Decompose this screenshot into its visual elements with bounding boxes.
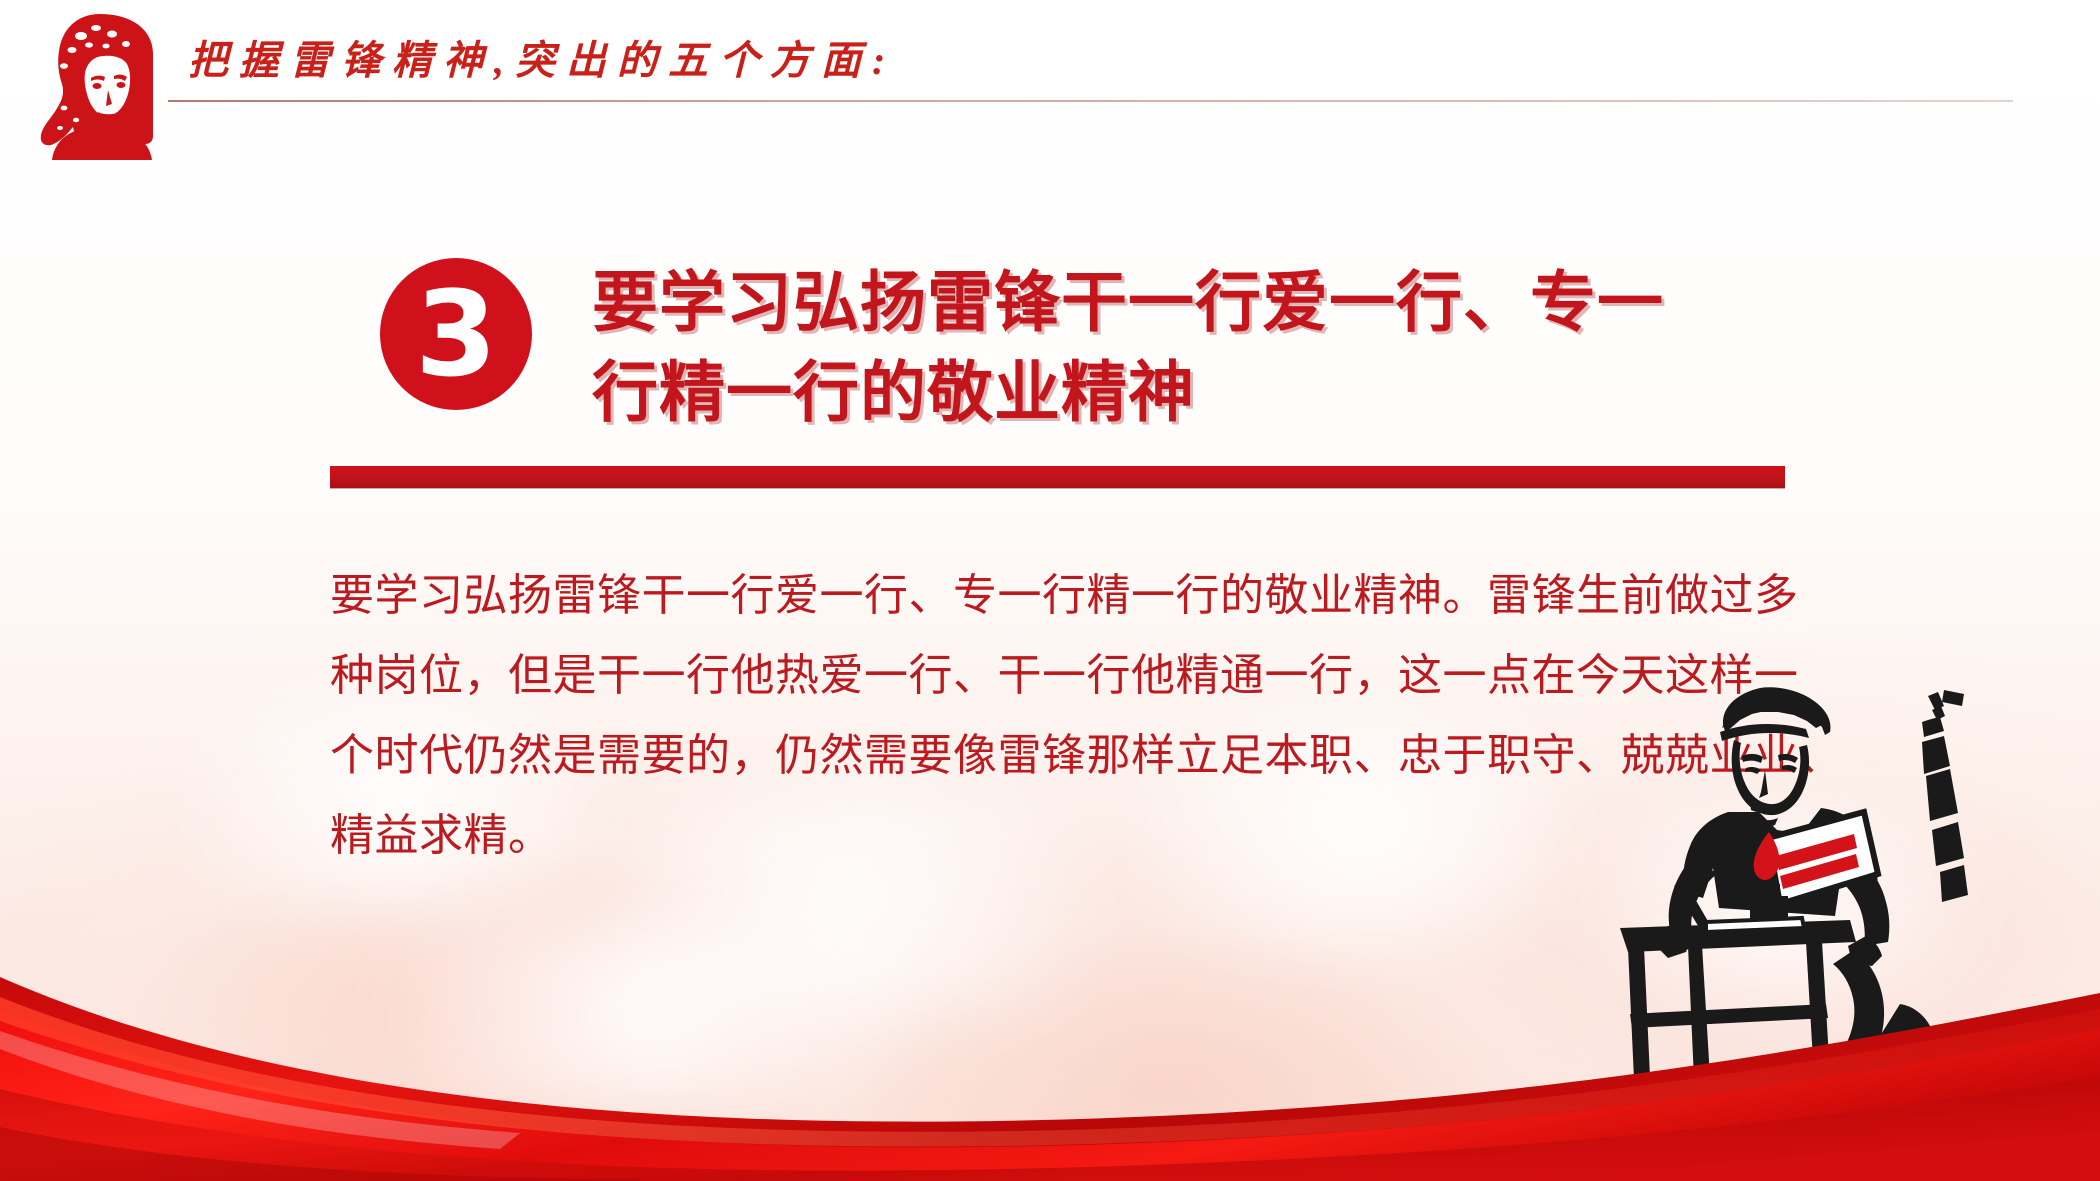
header-divider	[168, 100, 2013, 102]
header-title: 把握雷锋精神,突出的五个方面:	[188, 28, 896, 86]
slide-header: 把握雷锋精神,突出的五个方面:	[0, 0, 2100, 160]
soldier-studying-at-desk-illustration	[1610, 660, 2050, 1120]
body-line: 个时代仍然是需要的，仍然需要像雷锋那样立足本职、忠于职守、兢兢业业、	[330, 716, 1830, 796]
title-divider-bar	[330, 466, 1785, 488]
body-line: 要学习弘扬雷锋干一行爱一行、专一行精一行的敬业精神。雷锋生前做过多	[330, 556, 1830, 636]
heading-line: 要学习弘扬雷锋干一行爱一行、专一	[592, 258, 1772, 348]
body-line: 精益求精。	[330, 796, 1830, 876]
section-number-badge: 3	[380, 258, 532, 410]
slide-root: 把握雷锋精神,突出的五个方面: 3 要学习弘扬雷锋干一行爱一行、专一 行精一行的…	[0, 0, 2100, 1181]
body-paragraph: 要学习弘扬雷锋干一行爱一行、专一行精一行的敬业精神。雷锋生前做过多 种岗位，但是…	[330, 556, 1830, 876]
leifeng-portrait-icon	[34, 12, 166, 160]
section-heading: 要学习弘扬雷锋干一行爱一行、专一 行精一行的敬业精神	[592, 258, 1772, 438]
heading-line: 行精一行的敬业精神	[592, 348, 1772, 438]
body-line: 种岗位，但是干一行他热爱一行、干一行他精通一行，这一点在今天这样一	[330, 636, 1830, 716]
cloud-wisp	[300, 920, 1000, 1110]
